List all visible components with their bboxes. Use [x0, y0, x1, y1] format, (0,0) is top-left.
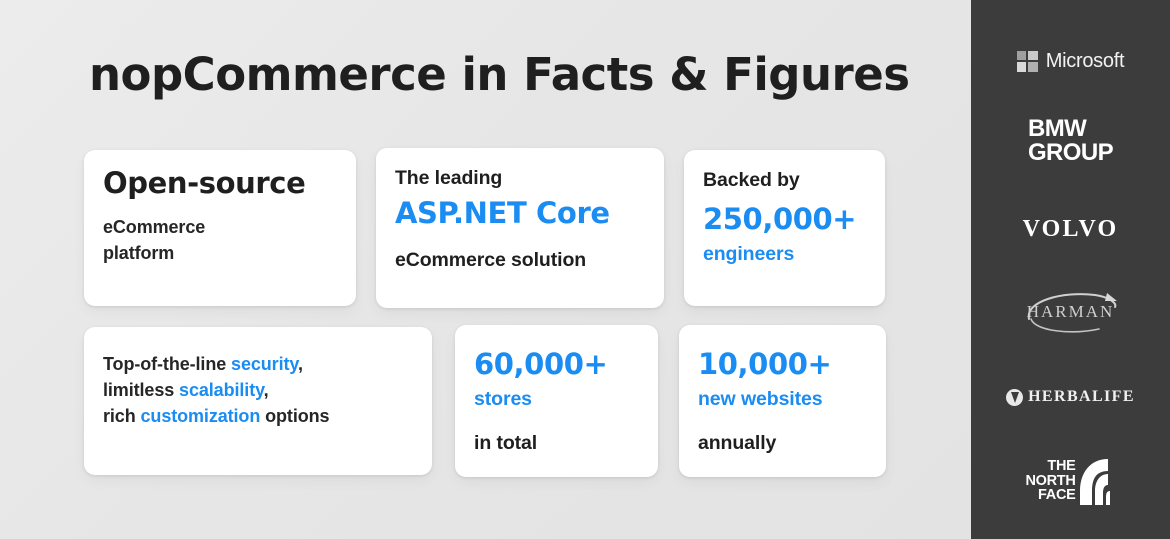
- card-stores-metric: 60,000+: [474, 349, 639, 381]
- card-new-websites-unit: new websites: [698, 387, 867, 413]
- logo-bmw-group: BMW GROUP: [971, 115, 1170, 167]
- capabilities-row2-suffix: ,: [264, 380, 269, 400]
- microsoft-squares-icon: [1017, 51, 1038, 72]
- client-logos-sidebar: Microsoft BMW GROUP VOLVO HARMAN: [971, 0, 1170, 539]
- capabilities-keyword-customization: customization: [141, 406, 261, 426]
- the-north-face-wordmark: THE NORTH FACE: [1025, 459, 1075, 503]
- logo-volvo: VOLVO: [971, 212, 1170, 246]
- card-capabilities-row-3: rich customization options: [103, 403, 413, 429]
- volvo-wordmark: VOLVO: [1023, 216, 1119, 243]
- card-stores-unit: stores: [474, 387, 639, 413]
- capabilities-row3-suffix: options: [260, 406, 329, 426]
- bmw-line-2: GROUP: [1028, 141, 1113, 165]
- card-aspnet-core: The leading ASP.NET Core eCommerce solut…: [376, 148, 664, 308]
- the-north-face-dome-icon: [1078, 457, 1116, 505]
- card-engineers-unit: engineers: [703, 242, 866, 268]
- capabilities-row2-prefix: limitless: [103, 380, 179, 400]
- slide-root: nopCommerce in Facts & Figures Open-sour…: [0, 0, 1170, 539]
- card-capabilities: Top-of-the-line security, limitless scal…: [84, 327, 432, 475]
- card-engineers-line1: Backed by: [703, 168, 866, 194]
- card-aspnet-core-line1: The leading: [395, 166, 645, 192]
- logo-the-north-face: THE NORTH FACE: [971, 455, 1170, 507]
- tnf-line-2: NORTH: [1025, 474, 1075, 489]
- bmw-line-1: BMW: [1028, 117, 1113, 141]
- card-open-source-line3: platform: [103, 240, 337, 266]
- card-new-websites: 10,000+ new websites annually: [679, 325, 886, 477]
- main-content-panel: nopCommerce in Facts & Figures Open-sour…: [0, 0, 971, 539]
- logo-microsoft: Microsoft: [971, 44, 1170, 78]
- card-open-source-heading: Open-source: [103, 168, 337, 200]
- logo-harman: HARMAN: [971, 288, 1170, 336]
- tnf-line-1: THE: [1025, 459, 1075, 474]
- microsoft-wordmark: Microsoft: [1046, 50, 1124, 73]
- card-aspnet-core-heading: ASP.NET Core: [395, 198, 645, 230]
- card-capabilities-row-2: limitless scalability,: [103, 377, 413, 403]
- page-title: nopCommerce in Facts & Figures: [89, 48, 910, 101]
- card-stores-qualifier: in total: [474, 431, 639, 457]
- card-stores: 60,000+ stores in total: [455, 325, 658, 477]
- card-aspnet-core-line3: eCommerce solution: [395, 248, 645, 274]
- card-engineers-metric: 250,000+: [703, 204, 866, 236]
- tnf-line-3: FACE: [1025, 488, 1075, 503]
- logo-herbalife: HERBALIFE: [971, 382, 1170, 412]
- card-capabilities-row-1: Top-of-the-line security,: [103, 351, 413, 377]
- capabilities-keyword-scalability: scalability: [179, 380, 264, 400]
- card-open-source: Open-source eCommerce platform: [84, 150, 356, 306]
- herbalife-leaf-icon: [1006, 389, 1023, 406]
- card-open-source-line2: eCommerce: [103, 214, 337, 240]
- card-engineers: Backed by 250,000+ engineers: [684, 150, 885, 306]
- capabilities-keyword-security: security: [231, 354, 298, 374]
- capabilities-row3-prefix: rich: [103, 406, 141, 426]
- capabilities-row1-suffix: ,: [298, 354, 303, 374]
- harman-wordmark: HARMAN: [1011, 302, 1131, 322]
- capabilities-row1-prefix: Top-of-the-line: [103, 354, 231, 374]
- card-new-websites-metric: 10,000+: [698, 349, 867, 381]
- card-new-websites-qualifier: annually: [698, 431, 867, 457]
- herbalife-wordmark: HERBALIFE: [1028, 388, 1135, 406]
- bmw-group-wordmark: BMW GROUP: [1028, 117, 1113, 165]
